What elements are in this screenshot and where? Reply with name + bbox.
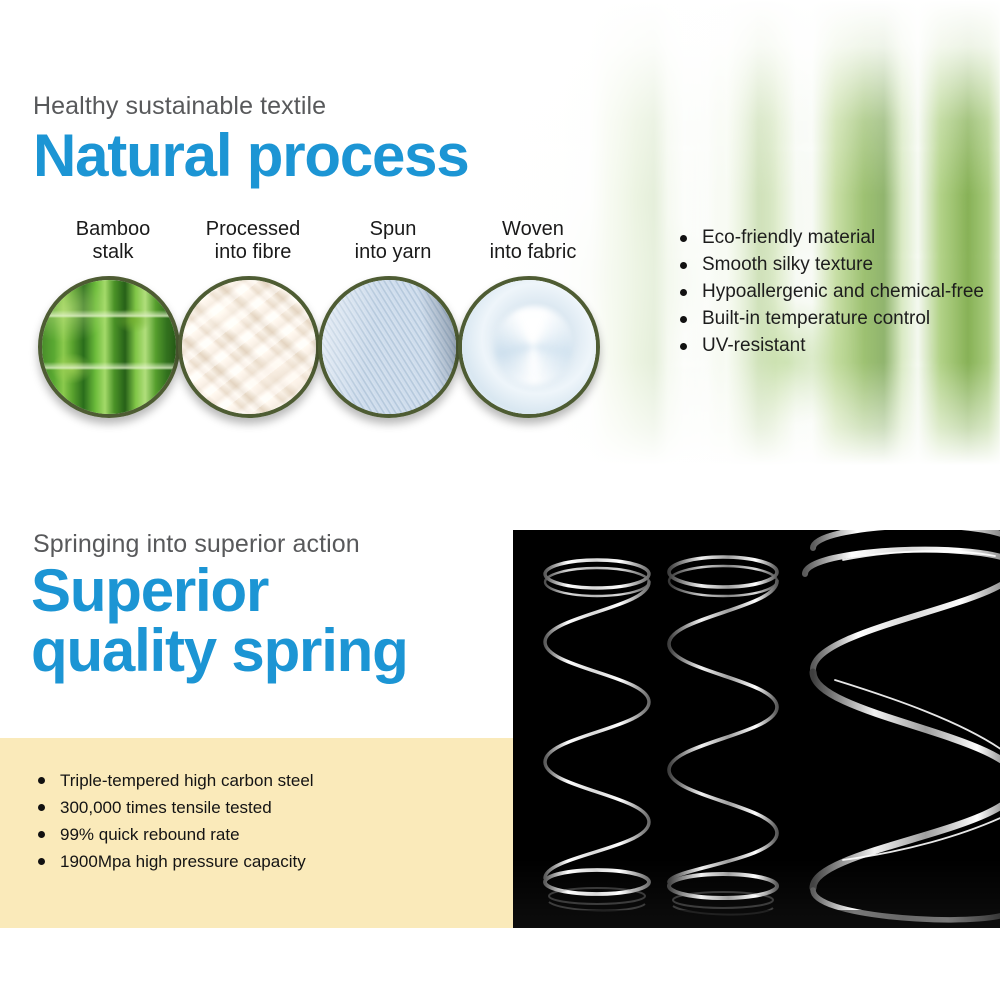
process-step-spun-into-yarn: Spun into yarn <box>313 218 473 264</box>
spring-feature-list: Triple-tempered high carbon steel 300,00… <box>33 767 314 875</box>
list-item: 99% quick rebound rate <box>33 821 314 848</box>
natural-process-section: Healthy sustainable textile Natural proc… <box>0 0 1000 465</box>
list-item: Smooth silky texture <box>676 251 984 278</box>
spring-reflection-floor <box>513 858 1000 928</box>
top-section-eyebrow: Healthy sustainable textile <box>33 92 326 121</box>
process-step-bamboo-stalk: Bamboo stalk <box>33 218 193 264</box>
process-step-image-bamboo-stalk <box>38 276 180 418</box>
top-section-headline: Natural process <box>33 125 469 187</box>
superior-spring-section: Springing into superior action Superior … <box>0 465 1000 1000</box>
list-item: Eco-friendly material <box>676 224 984 251</box>
spring-feature-card: Triple-tempered high carbon steel 300,00… <box>0 738 513 928</box>
list-item: UV-resistant <box>676 332 984 359</box>
bamboo-process-steps: Bamboo stalk Processed into fibre Spun i… <box>33 218 613 465</box>
process-step-label: Spun into yarn <box>313 218 473 264</box>
list-item: 300,000 times tensile tested <box>33 794 314 821</box>
list-item: Built-in temperature control <box>676 305 984 332</box>
process-step-processed-into-fibre: Processed into fibre <box>173 218 333 264</box>
list-item: Hypoallergenic and chemical-free <box>676 278 984 305</box>
process-step-image-fibre <box>178 276 320 418</box>
list-item: 1900Mpa high pressure capacity <box>33 848 314 875</box>
process-step-label: Woven into fabric <box>453 218 613 264</box>
process-step-image-yarn <box>318 276 460 418</box>
process-step-label: Processed into fibre <box>173 218 333 264</box>
list-item: Triple-tempered high carbon steel <box>33 767 314 794</box>
bottom-section-eyebrow: Springing into superior action <box>33 530 360 559</box>
process-step-woven-into-fabric: Woven into fabric <box>453 218 613 264</box>
bottom-section-headline: Superior quality spring <box>31 561 408 681</box>
coil-spring-photo <box>513 530 1000 928</box>
process-step-image-fabric <box>458 276 600 418</box>
process-step-label: Bamboo stalk <box>33 218 193 264</box>
eco-feature-list: Eco-friendly material Smooth silky textu… <box>676 224 984 359</box>
